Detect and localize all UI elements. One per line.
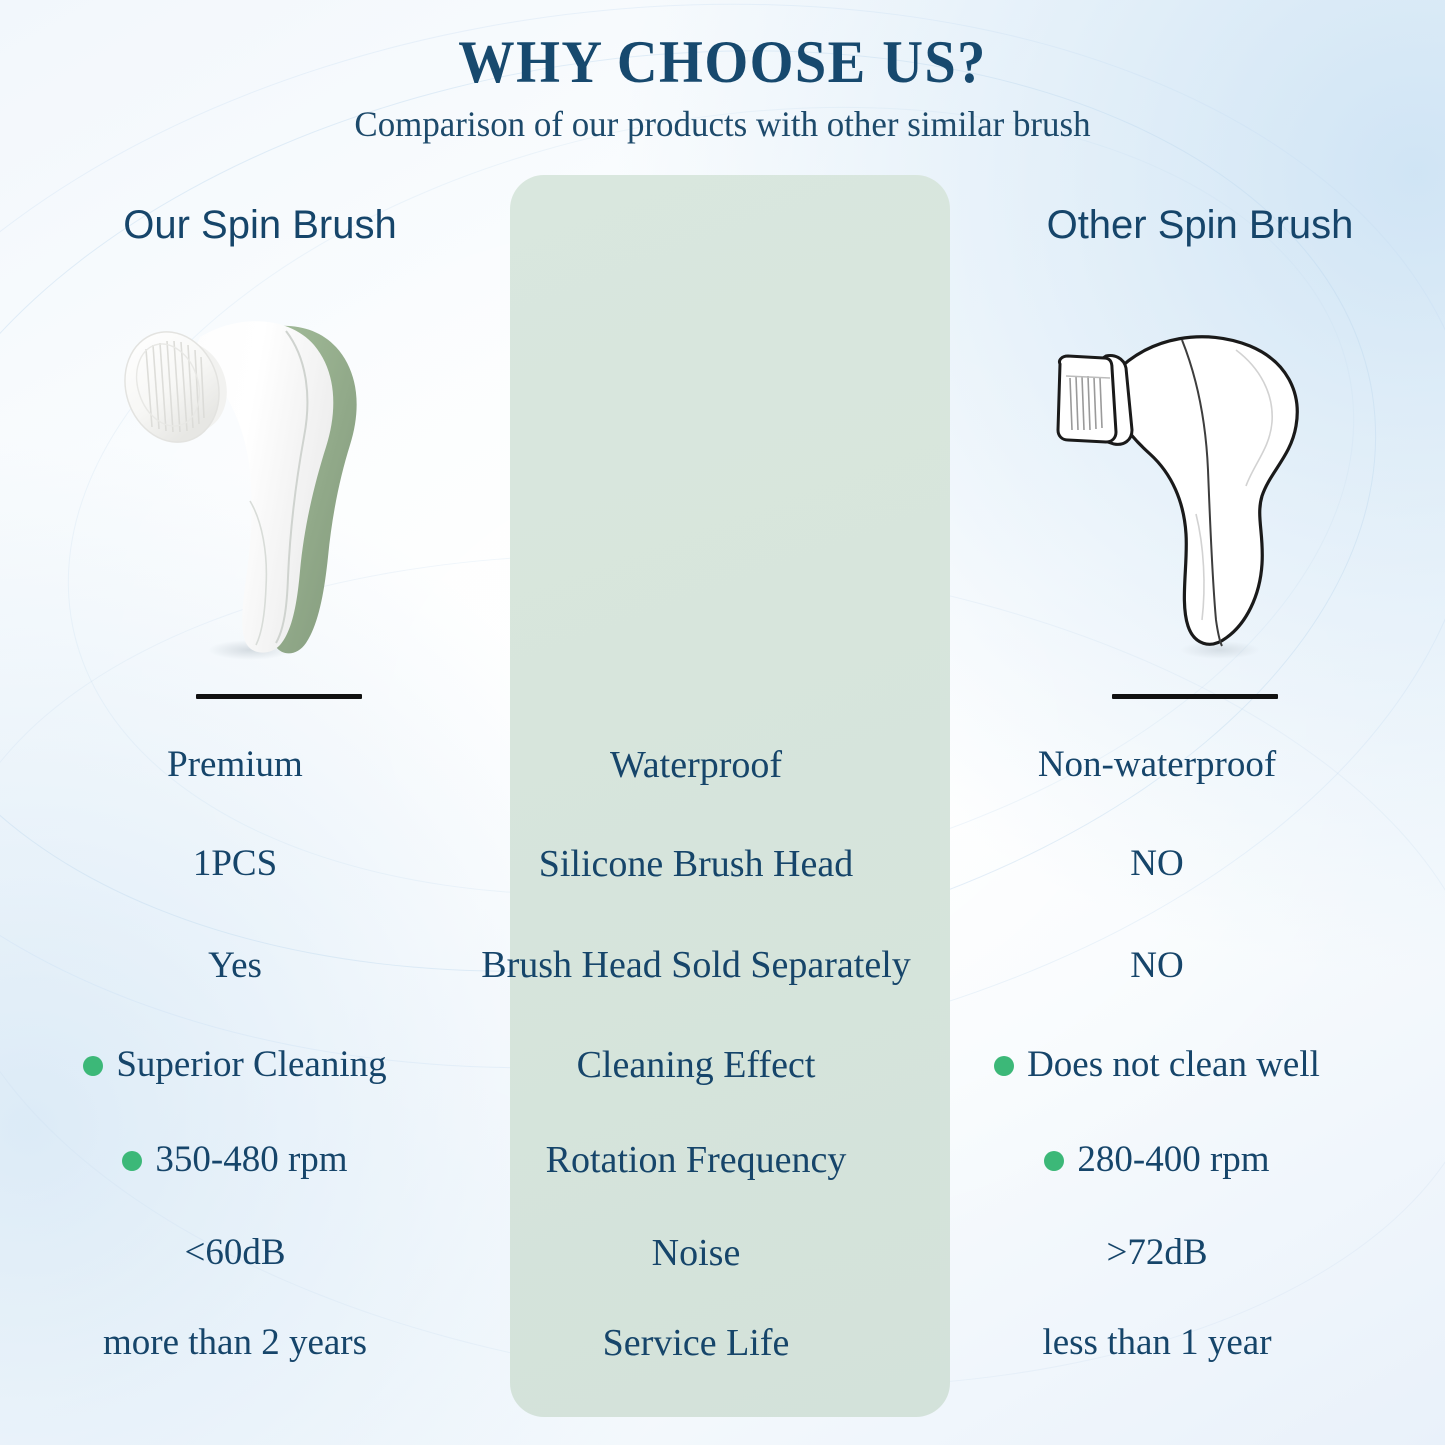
table-row: more than 2 years Service Life less than… [0, 1298, 1445, 1388]
row-value-other: Non-waterproof [916, 744, 1392, 785]
row-feature: Waterproof [476, 744, 916, 787]
row-feature: Service Life [476, 1322, 916, 1365]
our-spin-brush-image [100, 295, 400, 665]
row-feature: Brush Head Sold Separately [476, 945, 916, 986]
row-other-text: >72dB [1106, 1232, 1207, 1273]
row-feature: Silicone Brush Head [476, 843, 916, 886]
divider-right [1112, 694, 1278, 699]
row-other-text: Non-waterproof [1038, 744, 1276, 785]
table-row: Yes Brush Head Sold Separately NO [0, 914, 1445, 1018]
bullet-icon [83, 1056, 103, 1076]
row-ours-text: Superior Cleaning [116, 1044, 386, 1085]
row-ours-text: 350-480 rpm [155, 1139, 347, 1180]
row-value-ours: Superior Cleaning [0, 1044, 476, 1085]
row-ours-text: <60dB [184, 1232, 285, 1273]
column-header-ours: Our Spin Brush [60, 203, 460, 248]
row-value-ours: Premium [0, 744, 476, 785]
table-row: <60dB Noise >72dB [0, 1208, 1445, 1298]
table-row: Superior Cleaning Cleaning Effect Does n… [0, 1018, 1445, 1112]
column-header-other: Other Spin Brush [1000, 203, 1400, 248]
row-value-ours: Yes [0, 945, 476, 986]
bullet-icon [122, 1151, 142, 1171]
row-ours-text: Premium [167, 744, 303, 785]
table-row: Premium Waterproof Non-waterproof [0, 716, 1445, 814]
row-value-ours: 1PCS [0, 843, 476, 884]
row-other-text: less than 1 year [1042, 1322, 1271, 1363]
row-ours-text: Yes [208, 945, 262, 986]
row-other-text: 280-400 rpm [1077, 1139, 1269, 1180]
comparison-infographic: WHY CHOOSE US? Comparison of our product… [0, 0, 1445, 1445]
row-value-other: less than 1 year [916, 1322, 1392, 1363]
row-value-other: >72dB [916, 1232, 1392, 1273]
row-value-ours: more than 2 years [0, 1322, 476, 1363]
row-other-text: Does not clean well [1027, 1044, 1320, 1085]
row-value-other: 280-400 rpm [916, 1139, 1392, 1180]
row-other-text: NO [1130, 945, 1183, 986]
row-value-ours: <60dB [0, 1232, 476, 1273]
other-spin-brush-image [1030, 320, 1320, 665]
row-feature: Noise [476, 1232, 916, 1275]
row-value-other: NO [916, 843, 1392, 884]
table-row: 1PCS Silicone Brush Head NO [0, 814, 1445, 914]
row-ours-text: more than 2 years [103, 1322, 367, 1363]
page-subtitle: Comparison of our products with other si… [22, 103, 1424, 145]
comparison-rows: Premium Waterproof Non-waterproof 1PCS S… [0, 716, 1445, 1388]
bullet-icon [994, 1056, 1014, 1076]
bullet-icon [1044, 1151, 1064, 1171]
row-value-other: Does not clean well [916, 1044, 1392, 1085]
row-other-text: NO [1130, 843, 1183, 884]
table-row: 350-480 rpm Rotation Frequency 280-400 r… [0, 1112, 1445, 1208]
row-value-ours: 350-480 rpm [0, 1139, 476, 1180]
divider-left [196, 694, 362, 699]
page-title: WHY CHOOSE US? [43, 28, 1401, 97]
row-value-other: NO [916, 945, 1392, 986]
row-ours-text: 1PCS [193, 843, 277, 884]
row-feature: Cleaning Effect [476, 1044, 916, 1087]
row-feature: Rotation Frequency [476, 1139, 916, 1182]
